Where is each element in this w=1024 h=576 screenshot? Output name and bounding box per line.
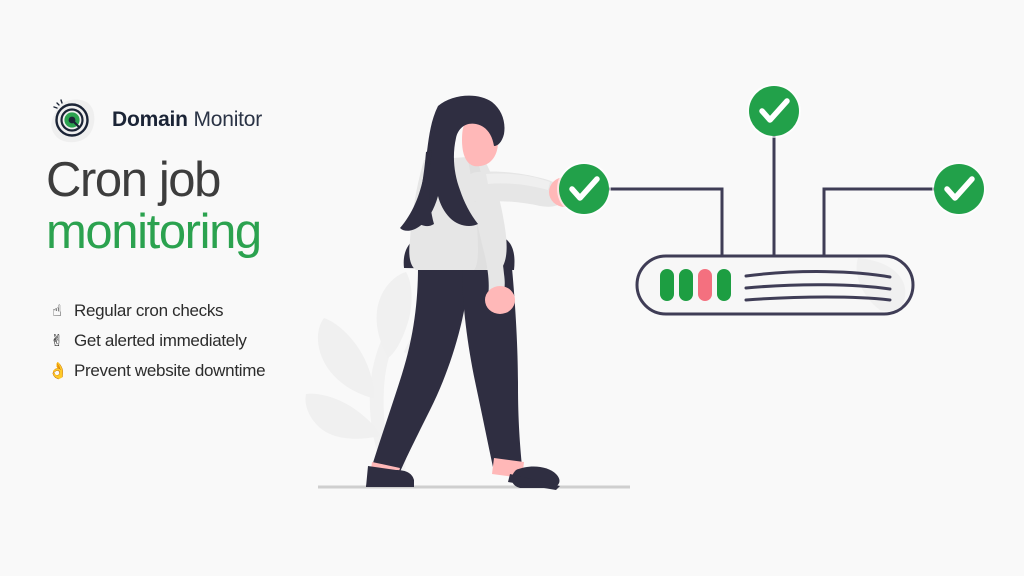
brand-name-strong: Domain — [112, 108, 188, 131]
connector-left — [600, 189, 722, 258]
list-item: 👌 Prevent website downtime — [48, 356, 265, 386]
list-item: ☝ Regular cron checks — [48, 296, 265, 326]
target-bullseye-icon — [46, 94, 98, 146]
headline-line-1: Cron job — [46, 155, 261, 207]
hanging-hand — [485, 286, 515, 314]
slide-canvas: Domain Monitor Cron job monitoring ☝ Reg… — [0, 0, 1024, 576]
router-device — [637, 256, 913, 314]
ok-hand-emoji: 👌 — [48, 363, 66, 379]
brand-name: Domain Monitor — [112, 108, 262, 132]
connector-right — [824, 189, 944, 258]
brand-lockup[interactable]: Domain Monitor — [46, 94, 262, 146]
victory-hand-emoji: ✌ — [48, 333, 66, 349]
feature-label: Get alerted immediately — [74, 331, 247, 351]
status-check-top — [747, 84, 801, 138]
feature-label: Regular cron checks — [74, 301, 223, 321]
illustration-artwork — [0, 0, 1024, 576]
headline-line-2: monitoring — [46, 207, 261, 259]
status-check-left — [557, 162, 611, 216]
feature-list: ☝ Regular cron checks ✌ Get alerted imme… — [48, 296, 265, 386]
connector-lines — [600, 134, 944, 258]
status-check-right — [932, 162, 986, 216]
feature-label: Prevent website downtime — [74, 361, 265, 381]
list-item: ✌ Get alerted immediately — [48, 326, 265, 356]
index-pointing-up-emoji: ☝ — [48, 303, 66, 319]
brand-name-light: Monitor — [193, 108, 262, 131]
page-title: Cron job monitoring — [46, 155, 261, 259]
